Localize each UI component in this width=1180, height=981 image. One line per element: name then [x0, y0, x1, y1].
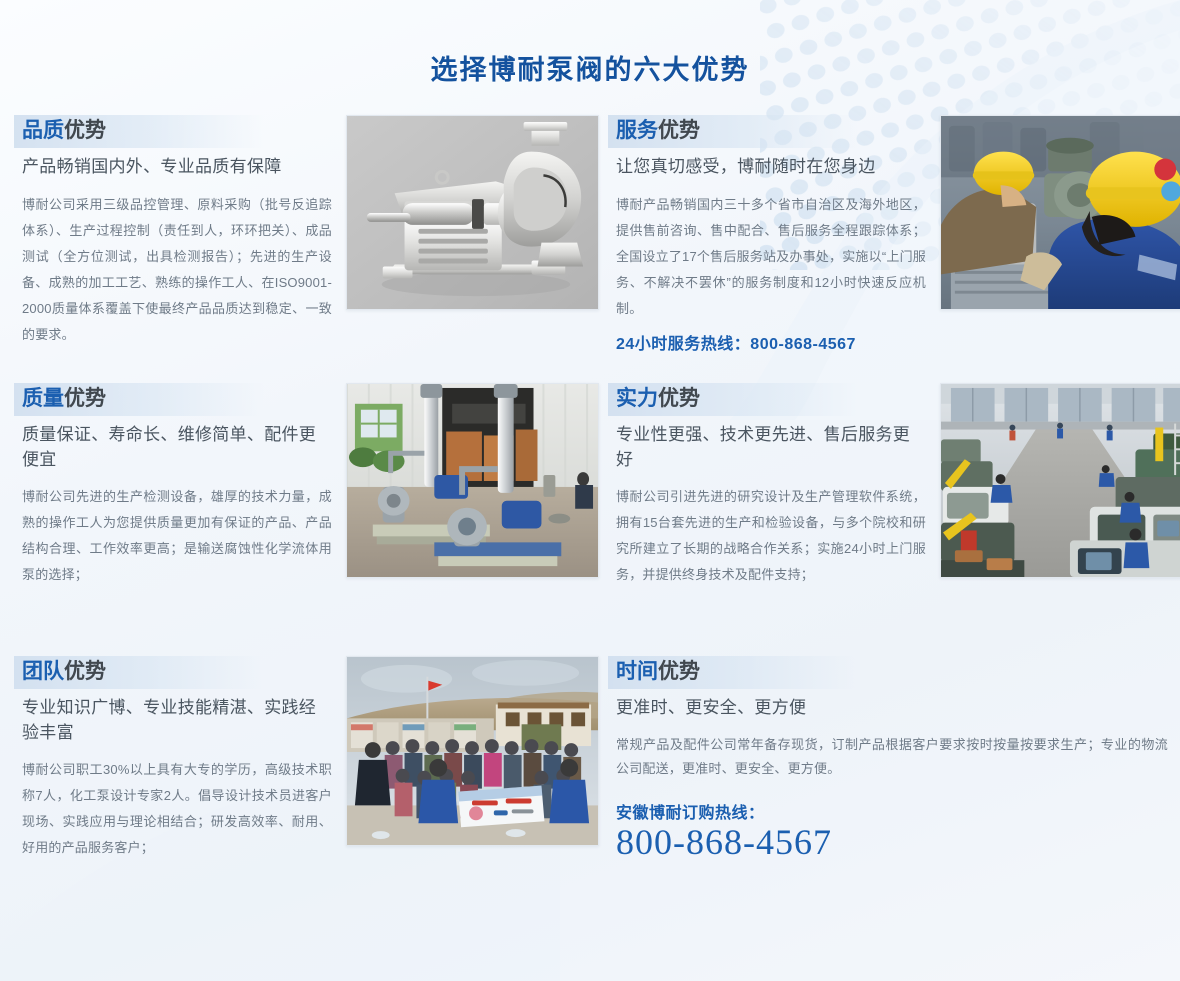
page-title: 选择博耐泵阀的六大优势 [0, 0, 1180, 91]
advantage-body-text: 常规产品及配件公司常年备存现货，订制产品根据客户要求按时按量按要求生产；专业的物… [608, 733, 1168, 781]
advantage-body-text: 博耐公司引进先进的研究设计及生产管理软件系统，拥有15台套先进的生产和检验设备，… [608, 484, 926, 588]
advantage-card-team: 团队优势 专业知识广博、专业技能精湛、实践经验丰富 博耐公司职工30%以上具有大… [0, 656, 590, 861]
advantage-heading: 品质优势 [14, 115, 264, 148]
advantage-heading-accent: 服务 [616, 119, 658, 142]
advantage-heading-accent: 质量 [22, 387, 64, 410]
advantage-body-text: 博耐产品畅销国内三十多个省市自治区及海外地区，提供售前咨询、售中配合、售后服务全… [608, 192, 926, 322]
advantage-text-column: 品质优势 产品畅销国内外、专业品质有保障 博耐公司采用三级品控管理、原料采购（批… [14, 115, 332, 348]
workers-servicing-pump-photo [940, 115, 1180, 310]
advantage-card-delivery-time: 时间优势 更准时、更安全、更方便 常规产品及配件公司常年备存现货，订制产品根据客… [590, 656, 1180, 862]
order-hotline-label: 安徽博耐订购热线： [608, 799, 1168, 823]
advantage-heading-accent: 实力 [616, 387, 658, 410]
advantage-card-quality-brand: 品质优势 产品畅销国内外、专业品质有保障 博耐公司采用三级品控管理、原料采购（批… [0, 115, 590, 348]
pump-units-outdoor-photo [346, 383, 599, 578]
advantage-heading: 质量优势 [14, 383, 264, 416]
advantage-body-text: 博耐公司采用三级品控管理、原料采购（批号反追踪体系）、生产过程控制（责任到人，环… [14, 192, 332, 348]
advantages-row-2: 质量优势 质量保证、寿命长、维修简单、配件更便宜 博耐公司先进的生产检测设备，雄… [0, 383, 1180, 638]
advantage-card-capability: 实力优势 专业性更强、技术更先进、售后服务更好 博耐公司引进先进的研究设计及生产… [590, 383, 1180, 588]
advantage-text-column: 团队优势 专业知识广博、专业技能精湛、实践经验丰富 博耐公司职工30%以上具有大… [14, 656, 332, 861]
service-hotline[interactable]: 24小时服务热线：800-868-4567 [608, 330, 926, 354]
advantage-text-column: 服务优势 让您真切感受，博耐随时在您身边 博耐产品畅销国内三十多个省市自治区及海… [608, 115, 926, 354]
advantage-heading-rest: 优势 [658, 119, 700, 142]
advantages-page: 选择博耐泵阀的六大优势 品质优势 产品畅销国内外、专业品质有保障 博耐公司采用三… [0, 0, 1180, 981]
order-hotline-number[interactable]: 800-868-4567 [608, 823, 1168, 863]
advantage-card-service: 服务优势 让您真切感受，博耐随时在您身边 博耐产品畅销国内三十多个省市自治区及海… [590, 115, 1180, 354]
advantages-row-1: 品质优势 产品畅销国内外、专业品质有保障 博耐公司采用三级品控管理、原料采购（批… [0, 115, 1180, 365]
advantage-subtitle: 专业知识广博、专业技能精湛、实践经验丰富 [14, 696, 332, 745]
advantage-heading-rest: 优势 [64, 660, 106, 683]
advantage-heading: 服务优势 [608, 115, 858, 148]
advantage-heading-rest: 优势 [658, 660, 700, 683]
advantage-heading-rest: 优势 [64, 387, 106, 410]
advantage-subtitle: 产品畅销国内外、专业品质有保障 [14, 155, 332, 180]
advantage-subtitle: 更准时、更安全、更方便 [608, 696, 1168, 721]
team-charity-group-photo [346, 656, 599, 846]
advantage-heading-accent: 时间 [616, 660, 658, 683]
advantage-body-text: 博耐公司先进的生产检测设备，雄厚的技术力量，成熟的操作工人为您提供质量更加有保证… [14, 484, 332, 588]
advantage-body-text: 博耐公司职工30%以上具有大专的学历，高级技术职称7人，化工泵设计专家2人。倡导… [14, 757, 332, 861]
advantage-heading: 时间优势 [608, 656, 858, 689]
advantage-subtitle: 专业性更强、技术更先进、售后服务更好 [608, 423, 926, 472]
advantage-subtitle: 让您真切感受，博耐随时在您身边 [608, 155, 926, 180]
advantages-grid: 品质优势 产品畅销国内外、专业品质有保障 博耐公司采用三级品控管理、原料采购（批… [0, 115, 1180, 886]
advantage-heading-accent: 品质 [22, 119, 64, 142]
advantage-heading: 团队优势 [14, 656, 264, 689]
advantage-text-column: 时间优势 更准时、更安全、更方便 常规产品及配件公司常年备存现货，订制产品根据客… [608, 656, 1168, 862]
advantage-subtitle: 质量保证、寿命长、维修简单、配件更便宜 [14, 423, 332, 472]
machining-workshop-photo [940, 383, 1180, 578]
advantage-heading-rest: 优势 [64, 119, 106, 142]
advantage-text-column: 质量优势 质量保证、寿命长、维修简单、配件更便宜 博耐公司先进的生产检测设备，雄… [14, 383, 332, 588]
advantages-row-3: 团队优势 专业知识广博、专业技能精湛、实践经验丰富 博耐公司职工30%以上具有大… [0, 656, 1180, 886]
advantage-heading-rest: 优势 [658, 387, 700, 410]
advantage-text-column: 实力优势 专业性更强、技术更先进、售后服务更好 博耐公司引进先进的研究设计及生产… [608, 383, 926, 588]
advantage-heading-accent: 团队 [22, 660, 64, 683]
advantage-card-reliability: 质量优势 质量保证、寿命长、维修简单、配件更便宜 博耐公司先进的生产检测设备，雄… [0, 383, 590, 588]
advantage-heading: 实力优势 [608, 383, 858, 416]
industrial-pump-cutaway-render [346, 115, 599, 310]
